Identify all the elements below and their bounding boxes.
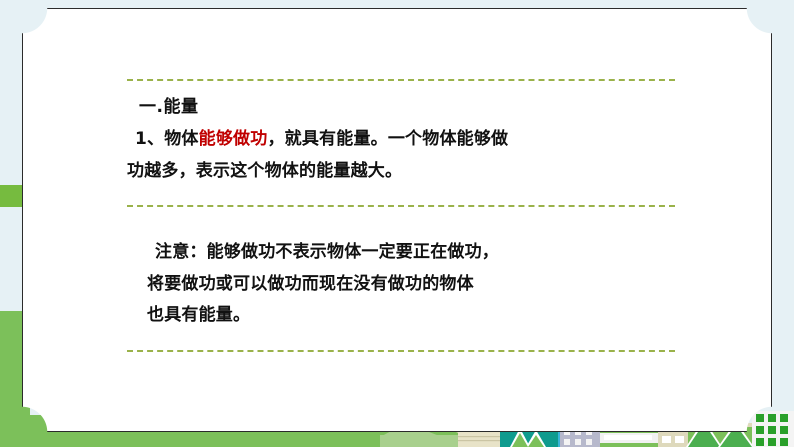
note-line-1: 注意：能够做功不表示物体一定要正在做功， [155,239,687,267]
note-line-2: 将要做功或可以做功而现在没有做功的物体 [147,271,687,299]
spacer-3 [127,338,687,350]
slide-page-inner: 一.能量 1、物体能够做功，就具有能量。一个物体能够做 功越多，表示这个物体的能… [23,9,773,433]
point-1-line-2: 功越多，表示这个物体的能量越大。 [127,158,687,186]
section-heading: 一.能量 [139,97,687,118]
note-line-3: 也具有能量。 [147,302,687,330]
point-1-line-1: 1、物体能够做功，就具有能量。一个物体能够做 [135,126,687,154]
point-1-before: 物体 [164,129,198,149]
spacer-1 [127,193,687,205]
slide-content: 一.能量 1、物体能够做功，就具有能量。一个物体能够做 功越多，表示这个物体的能… [127,79,687,352]
slide-page: 一.能量 1、物体能够做功，就具有能量。一个物体能够做 功越多，表示这个物体的能… [22,8,772,432]
point-1-number: 1、 [135,129,164,149]
left-accent-tab [0,185,22,207]
slide-canvas: 一.能量 1、物体能够做功，就具有能量。一个物体能够做 功越多，表示这个物体的能… [0,0,794,447]
spacer-2 [127,207,687,229]
divider-bottom [127,350,675,352]
section-energy: 一.能量 1、物体能够做功，就具有能量。一个物体能够做 功越多，表示这个物体的能… [127,81,687,193]
point-1-after: ，就具有能量。一个物体能够做 [267,129,508,149]
section-note: 注意：能够做功不表示物体一定要正在做功， 将要做功或可以做功而现在没有做功的物体… [127,229,687,338]
point-1-highlight: 能够做功 [199,129,268,149]
